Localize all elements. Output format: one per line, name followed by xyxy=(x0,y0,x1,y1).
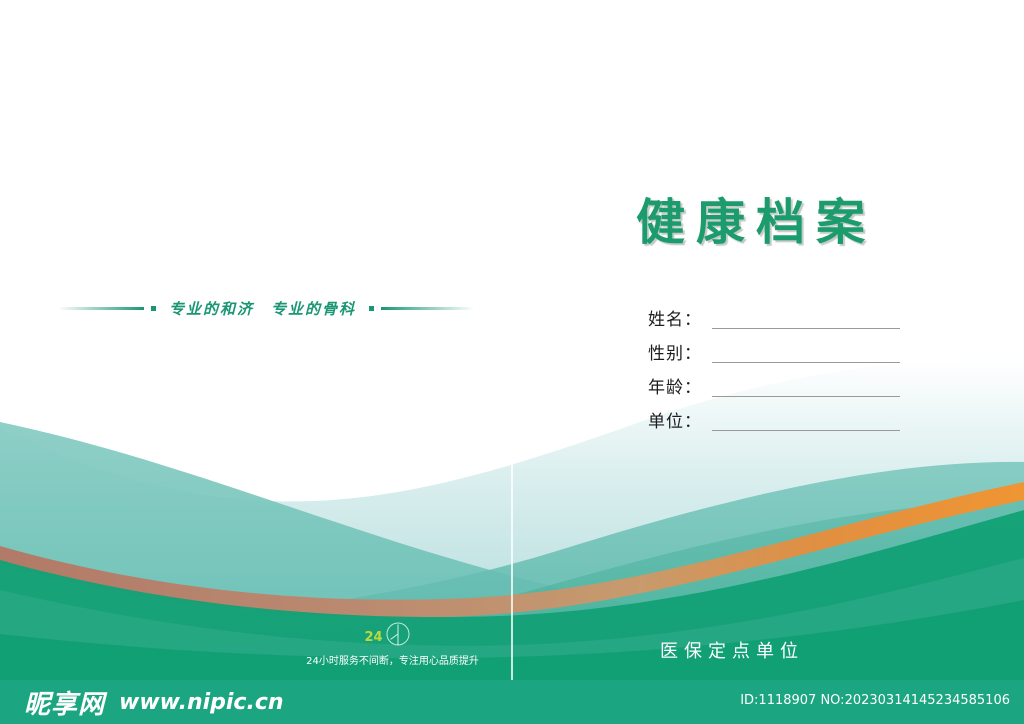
service-promise-text: 24小时服务不间断，专注用心品质提升 xyxy=(305,652,480,667)
center-fold-line xyxy=(511,445,513,680)
form-row-name: 姓名： xyxy=(620,300,900,332)
slogan-dot-right xyxy=(369,306,374,311)
clock-24-badge: 24 xyxy=(365,630,383,645)
clock-wrap: 24 xyxy=(305,620,480,650)
form-row-gender: 性别： xyxy=(620,334,900,366)
gender-field-input[interactable] xyxy=(712,362,900,363)
unit-field-label: 单位： xyxy=(620,412,702,434)
slogan-dot-left xyxy=(151,306,156,311)
slogan-strip: 专业的和济 专业的骨科 xyxy=(58,296,474,320)
patient-info-form: 姓名： 性别： 年龄： 单位： xyxy=(620,300,900,436)
watermark-bar: 昵享网 www.nipic.cn ID:1118907 NO:202303141… xyxy=(0,680,1024,724)
booklet-cover-page: 健康档案 姓名： 性别： 年龄： 单位： 专业的和济 专业的骨科 xyxy=(0,0,1024,724)
slogan-rule-left xyxy=(58,307,144,310)
page-title: 健康档案 xyxy=(636,183,876,254)
form-row-unit: 单位： xyxy=(620,402,900,434)
form-row-age: 年龄： xyxy=(620,368,900,400)
medical-insurance-badge: 医保定点单位 xyxy=(660,637,804,663)
name-field-input[interactable] xyxy=(712,328,900,329)
name-field-label: 姓名： xyxy=(620,310,702,332)
slogan-text: 专业的和济 专业的骨科 xyxy=(163,298,362,319)
clock-icon xyxy=(385,620,411,648)
age-field-label: 年龄： xyxy=(620,378,702,400)
unit-field-input[interactable] xyxy=(712,430,900,431)
watermark-url[interactable]: www.nipic.cn xyxy=(119,690,284,715)
age-field-input[interactable] xyxy=(712,396,900,397)
gender-field-label: 性别： xyxy=(620,344,702,366)
watermark-logo: 昵享网 xyxy=(24,684,105,721)
service-promise-block: 24 24小时服务不间断，专注用心品质提升 xyxy=(305,620,480,667)
watermark-id-text: ID:1118907 NO:20230314145234585106 xyxy=(740,693,1010,708)
slogan-rule-right xyxy=(381,307,474,310)
